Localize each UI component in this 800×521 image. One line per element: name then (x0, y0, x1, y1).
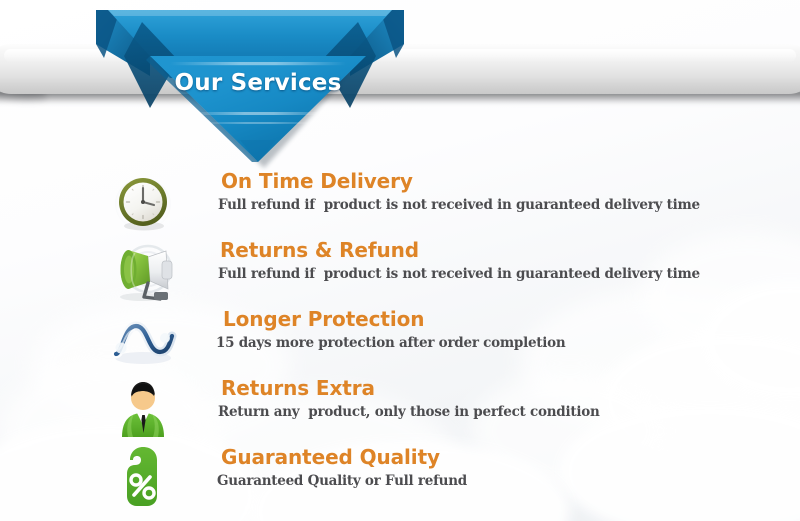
service-description: Full refund if product is not received i… (218, 195, 790, 215)
service-item-longer-protection[interactable]: Longer Protection 15 days more protectio… (0, 306, 800, 375)
service-item-on-time-delivery[interactable]: On Time Delivery Full refund if product … (0, 168, 800, 237)
services-banner-page: Our Services (0, 0, 800, 521)
businessperson-icon (104, 375, 182, 444)
service-text-block: Returns Extra Return any product, only t… (216, 375, 790, 422)
service-title: On Time Delivery (221, 168, 790, 194)
service-description: 15 days more protection after order comp… (216, 333, 790, 353)
clock-icon (104, 168, 182, 237)
megaphone-icon (104, 237, 182, 306)
service-title: Guaranteed Quality (221, 444, 790, 470)
service-item-returns-refund[interactable]: Returns & Refund Full refund if product … (0, 237, 800, 306)
service-title: Returns Extra (221, 375, 790, 401)
service-description: Return any product, only those in perfec… (218, 402, 790, 422)
ribbon-top-crease (108, 10, 392, 16)
ribbon-banner (0, 0, 800, 175)
service-text-block: Guaranteed Quality Guaranteed Quality or… (216, 444, 790, 491)
service-description: Full refund if product is not received i… (218, 264, 790, 284)
service-text-block: Returns & Refund Full refund if product … (216, 237, 790, 284)
service-text-block: On Time Delivery Full refund if product … (216, 168, 790, 215)
services-list: On Time Delivery Full refund if product … (0, 168, 800, 513)
ribbon-sheen-mid2 (196, 122, 320, 124)
service-item-returns-extra[interactable]: Returns Extra Return any product, only t… (0, 375, 800, 444)
service-title: Returns & Refund (220, 237, 790, 263)
wave-ribbon-icon (104, 306, 182, 375)
ribbon-sheen-mid (186, 112, 332, 115)
service-title: Longer Protection (223, 306, 790, 332)
service-description: Guaranteed Quality or Full refund (217, 471, 790, 491)
ribbon-sheen-top (170, 62, 346, 65)
service-text-block: Longer Protection 15 days more protectio… (216, 306, 790, 353)
service-item-guaranteed-quality[interactable]: Guaranteed Quality Guaranteed Quality or… (0, 444, 800, 513)
percent-tag-icon (104, 444, 182, 513)
banner-title: Our Services (152, 70, 364, 96)
